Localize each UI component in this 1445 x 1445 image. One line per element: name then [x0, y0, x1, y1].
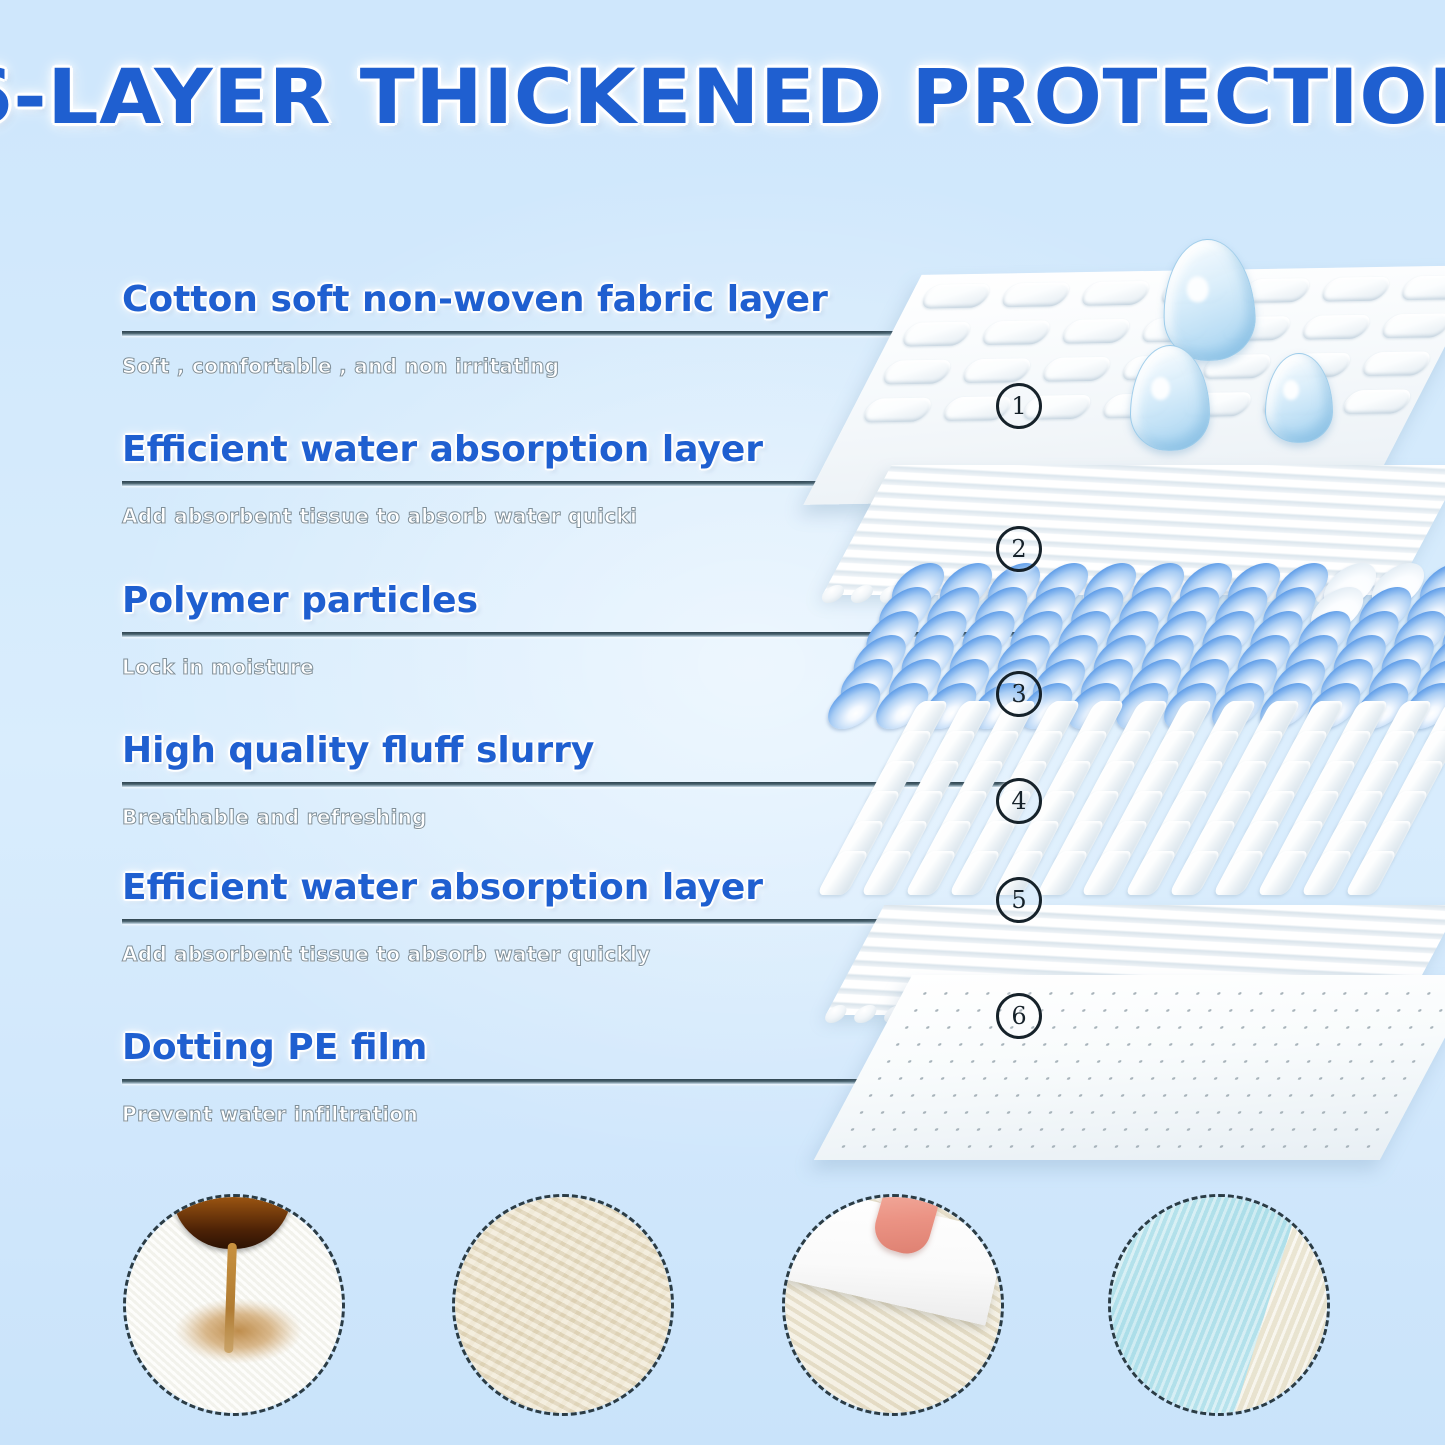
liquid-stream	[224, 1243, 237, 1353]
callout-number-2: 2	[996, 526, 1042, 572]
sheet-dotted-pe-film	[814, 975, 1445, 1160]
cup-shape	[172, 1197, 292, 1249]
callout-number-6: 6	[996, 993, 1042, 1039]
callout-number-3: 3	[996, 671, 1042, 717]
photo-liquid-absorption	[123, 1194, 345, 1416]
photo-liquid-absorption-image	[126, 1197, 342, 1413]
photo-blue-nonwoven-fabric-image	[1111, 1197, 1327, 1413]
photo-strip	[0, 1186, 1445, 1426]
photo-fluff-pulp-texture-image	[455, 1197, 671, 1413]
photo-finger-pressing-sheet-image	[785, 1197, 1001, 1413]
fluff-row	[816, 851, 1439, 895]
callout-number-4: 4	[996, 778, 1042, 824]
photo-finger-pressing-sheet	[782, 1194, 1004, 1416]
exploded-layer-illustration	[835, 215, 1445, 1175]
callout-number-5: 5	[996, 877, 1042, 923]
callout-number-1: 1	[996, 383, 1042, 429]
photo-fluff-pulp-texture	[452, 1194, 674, 1416]
infographic-canvas: 6-LAYER THICKENED PROTECTION Cotton soft…	[0, 0, 1445, 1445]
pe-film-dot-pattern	[831, 985, 1445, 1150]
photo-blue-nonwoven-fabric	[1108, 1194, 1330, 1416]
